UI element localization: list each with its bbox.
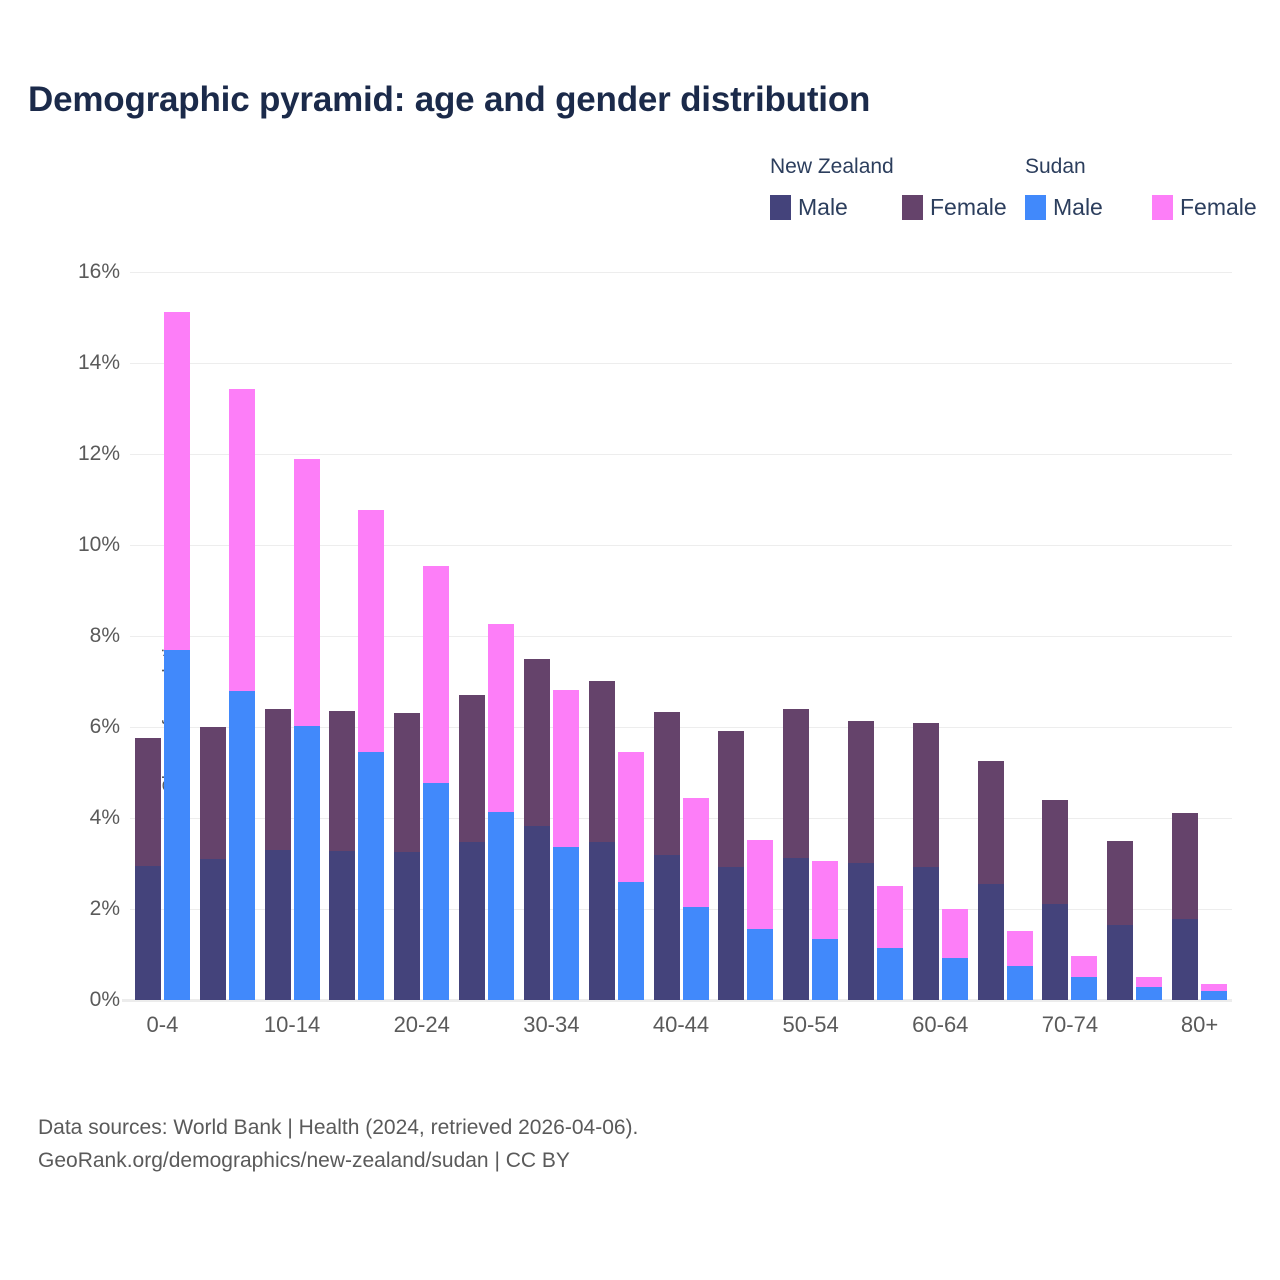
bar-sudan-50-54[interactable] bbox=[812, 861, 838, 1000]
bar-segment-nz-female bbox=[654, 712, 680, 855]
legend-entry-new-zealand-female[interactable]: Female bbox=[902, 195, 1007, 220]
bar-segment-sudan-male bbox=[294, 726, 320, 1000]
bar-sudan-0-4[interactable] bbox=[164, 312, 190, 1000]
x-axis-tick-label-10-14: 10-14 bbox=[264, 1012, 320, 1038]
bar-new-zealand-25-29[interactable] bbox=[459, 695, 485, 1000]
legend-entry-sudan-male[interactable]: Male bbox=[1025, 195, 1103, 220]
gridline bbox=[130, 363, 1232, 364]
bar-new-zealand-15-19[interactable] bbox=[329, 711, 355, 1000]
legend-label: Female bbox=[930, 196, 1007, 219]
bar-sudan-20-24[interactable] bbox=[423, 566, 449, 1000]
y-axis-tick-label: 14% bbox=[30, 351, 120, 375]
bar-segment-sudan-female bbox=[553, 690, 579, 847]
bar-segment-nz-male bbox=[718, 867, 744, 1000]
x-axis-tick-label-60-64: 60-64 bbox=[912, 1012, 968, 1038]
bar-segment-sudan-female bbox=[294, 459, 320, 727]
x-axis-tick-label-40-44: 40-44 bbox=[653, 1012, 709, 1038]
bar-segment-nz-female bbox=[329, 711, 355, 851]
bar-segment-nz-female bbox=[978, 761, 1004, 884]
page-title: Demographic pyramid: age and gender dist… bbox=[28, 80, 870, 120]
bar-sudan-25-29[interactable] bbox=[488, 624, 514, 1000]
bar-segment-sudan-male bbox=[553, 847, 579, 1000]
bar-segment-nz-female bbox=[1042, 800, 1068, 903]
y-axis-tick-label: 2% bbox=[30, 897, 120, 921]
x-axis-tick-label-20-24: 20-24 bbox=[394, 1012, 450, 1038]
bar-segment-nz-female bbox=[1172, 813, 1198, 919]
legend-group-title-sudan: Sudan bbox=[1025, 155, 1086, 179]
bar-sudan-60-64[interactable] bbox=[942, 909, 968, 1000]
footer-line-url[interactable]: GeoRank.org/demographics/new-zealand/sud… bbox=[38, 1145, 638, 1178]
x-axis-tick-label-70-74: 70-74 bbox=[1042, 1012, 1098, 1038]
bar-sudan-40-44[interactable] bbox=[683, 798, 709, 1000]
bar-segment-sudan-female bbox=[942, 909, 968, 958]
square-swatch bbox=[1025, 195, 1046, 220]
bar-segment-sudan-female bbox=[683, 798, 709, 907]
bar-segment-nz-male bbox=[459, 842, 485, 1000]
bar-segment-nz-female bbox=[394, 713, 420, 852]
bar-new-zealand-5-9[interactable] bbox=[200, 727, 226, 1000]
bar-segment-nz-male bbox=[1042, 904, 1068, 1000]
bar-sudan-65-69[interactable] bbox=[1007, 931, 1033, 1000]
x-axis-tick-label-50-54: 50-54 bbox=[783, 1012, 839, 1038]
x-axis-tick-label-80+: 80+ bbox=[1181, 1012, 1218, 1038]
bar-segment-sudan-male bbox=[1136, 987, 1162, 1000]
bar-new-zealand-75-79[interactable] bbox=[1107, 841, 1133, 1000]
y-axis-tick-label: 0% bbox=[30, 988, 120, 1012]
bar-new-zealand-35-39[interactable] bbox=[589, 681, 615, 1000]
bar-sudan-15-19[interactable] bbox=[358, 510, 384, 1000]
y-axis-tick-label: 6% bbox=[30, 715, 120, 739]
legend: New ZealandMaleFemaleSudanMaleFemale bbox=[640, 155, 1250, 235]
bar-new-zealand-80+[interactable] bbox=[1172, 813, 1198, 1000]
bar-new-zealand-10-14[interactable] bbox=[265, 709, 291, 1000]
bar-new-zealand-45-49[interactable] bbox=[718, 731, 744, 1000]
bar-segment-nz-male bbox=[589, 842, 615, 1000]
bar-segment-sudan-male bbox=[942, 958, 968, 1000]
bar-sudan-10-14[interactable] bbox=[294, 459, 320, 1000]
bar-segment-sudan-female bbox=[877, 886, 903, 947]
bar-new-zealand-70-74[interactable] bbox=[1042, 800, 1068, 1000]
bar-segment-sudan-male bbox=[164, 650, 190, 1000]
bar-segment-sudan-female bbox=[358, 510, 384, 753]
bar-segment-sudan-male bbox=[683, 907, 709, 1000]
bar-sudan-30-34[interactable] bbox=[553, 690, 579, 1000]
bar-sudan-45-49[interactable] bbox=[747, 840, 773, 1000]
square-swatch bbox=[902, 195, 923, 220]
bar-segment-sudan-male bbox=[747, 929, 773, 1000]
bar-segment-sudan-female bbox=[1071, 956, 1097, 977]
bar-segment-nz-male bbox=[978, 884, 1004, 1000]
bar-segment-sudan-female bbox=[618, 752, 644, 882]
square-swatch bbox=[770, 195, 791, 220]
bar-segment-sudan-male bbox=[488, 812, 514, 1000]
bar-segment-nz-male bbox=[848, 863, 874, 1000]
gridline bbox=[130, 272, 1232, 273]
square-swatch bbox=[1152, 195, 1173, 220]
bar-segment-nz-female bbox=[589, 681, 615, 842]
bar-segment-nz-female bbox=[718, 731, 744, 867]
bar-segment-sudan-female bbox=[1201, 984, 1227, 991]
footer-line-sources: Data sources: World Bank | Health (2024,… bbox=[38, 1112, 638, 1145]
bar-segment-sudan-male bbox=[423, 783, 449, 1000]
bar-segment-nz-female bbox=[459, 695, 485, 842]
bar-segment-nz-male bbox=[1172, 919, 1198, 1000]
bar-segment-nz-male bbox=[265, 850, 291, 1000]
bar-segment-sudan-male bbox=[229, 691, 255, 1000]
legend-label: Male bbox=[798, 196, 848, 219]
y-axis-tick-label: 16% bbox=[30, 260, 120, 284]
bar-segment-sudan-female bbox=[812, 861, 838, 938]
gridline bbox=[130, 454, 1232, 455]
bar-new-zealand-65-69[interactable] bbox=[978, 761, 1004, 1000]
bar-segment-sudan-female bbox=[1136, 977, 1162, 987]
bar-segment-sudan-male bbox=[877, 948, 903, 1000]
bar-segment-nz-male bbox=[394, 852, 420, 1000]
bar-segment-sudan-male bbox=[1007, 966, 1033, 1000]
y-axis-tick-label: 4% bbox=[30, 806, 120, 830]
bar-segment-sudan-female bbox=[164, 312, 190, 650]
bar-segment-sudan-female bbox=[488, 624, 514, 812]
bar-segment-sudan-male bbox=[1201, 991, 1227, 1000]
bar-segment-nz-male bbox=[135, 866, 161, 1000]
bar-segment-sudan-female bbox=[747, 840, 773, 929]
legend-entry-new-zealand-male[interactable]: Male bbox=[770, 195, 848, 220]
bar-segment-nz-male bbox=[783, 858, 809, 1000]
bar-segment-sudan-male bbox=[618, 882, 644, 1000]
bar-segment-nz-female bbox=[783, 709, 809, 858]
bar-sudan-80+[interactable] bbox=[1201, 984, 1227, 1000]
legend-group-title-new-zealand: New Zealand bbox=[770, 155, 894, 179]
bar-segment-sudan-female bbox=[423, 566, 449, 782]
bar-new-zealand-20-24[interactable] bbox=[394, 713, 420, 1000]
bar-segment-nz-male bbox=[913, 867, 939, 1000]
x-axis-tick-label-0-4: 0-4 bbox=[147, 1012, 179, 1038]
bar-segment-sudan-male bbox=[358, 752, 384, 1000]
bar-sudan-55-59[interactable] bbox=[877, 886, 903, 1000]
bar-segment-nz-female bbox=[265, 709, 291, 850]
bar-new-zealand-50-54[interactable] bbox=[783, 709, 809, 1000]
bar-segment-nz-female bbox=[135, 738, 161, 865]
y-axis-tick-label: 8% bbox=[30, 624, 120, 648]
bar-segment-sudan-female bbox=[229, 389, 255, 690]
bar-sudan-70-74[interactable] bbox=[1071, 956, 1097, 1000]
legend-entry-sudan-female[interactable]: Female bbox=[1152, 195, 1257, 220]
bar-sudan-35-39[interactable] bbox=[618, 752, 644, 1000]
bar-segment-nz-male bbox=[200, 859, 226, 1000]
bar-segment-nz-male bbox=[329, 851, 355, 1000]
bar-segment-sudan-female bbox=[1007, 931, 1033, 966]
bar-new-zealand-40-44[interactable] bbox=[654, 712, 680, 1000]
y-axis-tick-label: 10% bbox=[30, 533, 120, 557]
bar-segment-nz-female bbox=[1107, 841, 1133, 925]
bar-segment-nz-female bbox=[848, 721, 874, 863]
bar-new-zealand-30-34[interactable] bbox=[524, 659, 550, 1000]
plot-area: Share of population 0%2%4%6%8%10%12%14%1… bbox=[130, 272, 1232, 1000]
bar-segment-nz-male bbox=[524, 826, 550, 1000]
y-axis-tick-label: 12% bbox=[30, 442, 120, 466]
bar-new-zealand-0-4[interactable] bbox=[135, 738, 161, 1000]
bar-segment-nz-female bbox=[200, 727, 226, 859]
bar-sudan-75-79[interactable] bbox=[1136, 977, 1162, 1000]
bar-segment-nz-female bbox=[524, 659, 550, 826]
gridline bbox=[130, 1000, 1232, 1001]
x-axis-tick-label-30-34: 30-34 bbox=[523, 1012, 579, 1038]
bar-segment-nz-male bbox=[654, 855, 680, 1000]
footer-attribution: Data sources: World Bank | Health (2024,… bbox=[38, 1112, 638, 1177]
bar-new-zealand-60-64[interactable] bbox=[913, 723, 939, 1000]
bar-segment-nz-female bbox=[913, 723, 939, 866]
bar-sudan-5-9[interactable] bbox=[229, 389, 255, 1000]
chart-page: Demographic pyramid: age and gender dist… bbox=[0, 0, 1280, 1280]
legend-label: Female bbox=[1180, 196, 1257, 219]
legend-label: Male bbox=[1053, 196, 1103, 219]
bar-segment-sudan-male bbox=[1071, 977, 1097, 1000]
bar-segment-sudan-male bbox=[812, 939, 838, 1000]
bar-new-zealand-55-59[interactable] bbox=[848, 721, 874, 1000]
bar-segment-nz-male bbox=[1107, 925, 1133, 1000]
